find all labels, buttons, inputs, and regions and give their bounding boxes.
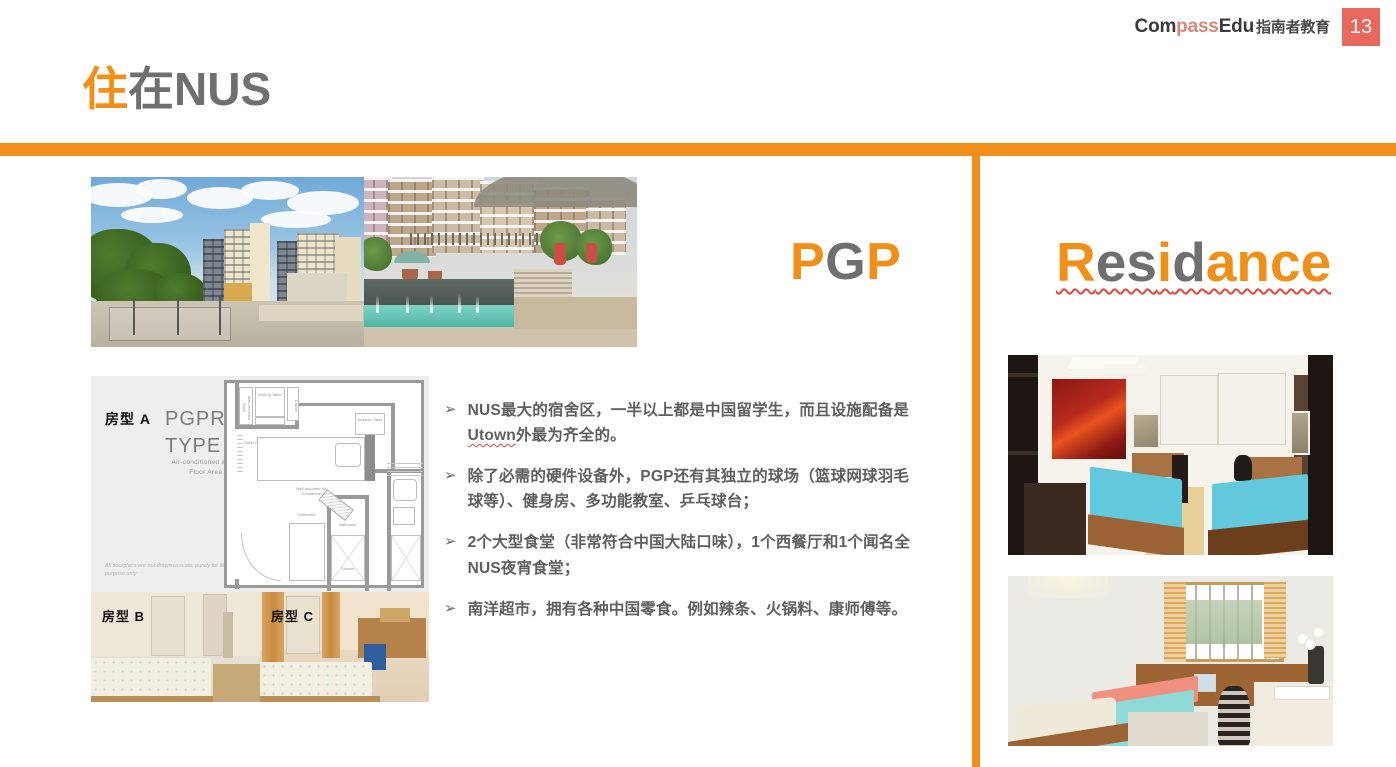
bullet-arrow-icon: ➢ — [444, 398, 457, 448]
window-blind — [1218, 373, 1286, 445]
residance-part-2: es — [1096, 231, 1157, 293]
building — [250, 223, 270, 311]
small-wall-art — [1290, 411, 1310, 455]
desk — [213, 664, 260, 702]
headboard — [365, 435, 375, 481]
residance-part-3: i — [1157, 231, 1172, 293]
pgp-banner-photo — [91, 177, 637, 347]
writing-table — [255, 387, 285, 417]
window-louver — [1164, 582, 1186, 662]
curtain — [262, 592, 284, 664]
paper-sheet — [1274, 686, 1330, 700]
residance-part-4: d — [1172, 231, 1206, 293]
room-type-b-label: 房型 B — [102, 606, 145, 625]
water-jet — [430, 295, 433, 313]
residance-part-5: ance — [1206, 231, 1331, 293]
wardrobe — [1308, 355, 1333, 555]
curtain — [322, 592, 340, 658]
pgp-heading: PGP — [790, 232, 901, 292]
list-item: ➢ 南洋超市，拥有各种中国零食。例如辣条、火锅料、康师傅等。 — [444, 597, 922, 622]
ceiling-light-glow — [1028, 576, 1108, 598]
room-type-c-photo: 房型 C — [260, 592, 429, 702]
door — [151, 596, 185, 656]
toilet — [393, 507, 415, 525]
pgp-letter-p2: P — [866, 233, 901, 291]
lantern — [554, 243, 566, 265]
deck — [514, 297, 637, 329]
writing-table-label: Writing Table — [256, 393, 284, 398]
chair — [1234, 455, 1252, 481]
light-pole — [133, 297, 135, 335]
flower — [1304, 638, 1316, 650]
water-jet — [476, 295, 479, 313]
room-type-a-label: 房型 A — [105, 409, 151, 429]
spellcheck-word: Utown — [468, 427, 516, 444]
pgp-fountain-plaza-photo — [364, 177, 637, 347]
logo-part-com: Com — [1135, 16, 1177, 37]
deck — [364, 327, 637, 347]
bullet-text: 2个大型食堂（非常符合中国大陆口味），1个西餐厅和1个闻名全NUS夜宵食堂； — [468, 530, 922, 580]
pgp-campus-aerial-photo — [91, 177, 364, 347]
brand-header: CompassEdu指南者教育 13 — [1135, 8, 1380, 46]
bullet-arrow-icon: ➢ — [444, 597, 457, 622]
lantern — [586, 243, 597, 263]
red-wall-art — [1050, 377, 1128, 461]
water-jet — [458, 293, 461, 313]
window-view — [1186, 600, 1262, 644]
shelf-board — [1008, 451, 1038, 455]
logo-chinese-name: 指南者教育 — [1256, 19, 1330, 36]
bullet-text-tail: 外最为齐全的。 — [516, 427, 626, 444]
wardrobe — [289, 523, 325, 581]
chair — [255, 417, 285, 425]
bullet-text: 除了必需的硬件设备外，PGP还有其独立的球场（篮球网球羽毛球等）、健身房、多功能… — [468, 464, 922, 514]
cloud — [135, 179, 187, 199]
twin-dorm-room-photo — [1008, 355, 1333, 555]
bedside-table-label: Bedside Table — [356, 418, 384, 423]
room-photos-row: 房型 B 房型 C — [91, 592, 429, 702]
list-item: ➢ 2个大型食堂（非常符合中国大陆口味），1个西餐厅和1个闻名全NUS夜宵食堂； — [444, 530, 922, 580]
small-wall-art — [1132, 413, 1160, 449]
shower-stall — [391, 535, 421, 581]
vertical-divider-bar — [972, 146, 980, 767]
header-divider-bar — [0, 143, 1396, 156]
bed-frame — [91, 696, 217, 702]
wall — [235, 425, 299, 429]
sink — [393, 479, 417, 501]
low-roof — [287, 273, 347, 301]
room-type-b-photo: 房型 B — [91, 592, 260, 702]
water-jet — [376, 295, 379, 313]
entrance-door-swing — [241, 533, 281, 581]
room-type-c-label: 房型 C — [271, 606, 314, 625]
window — [286, 596, 320, 654]
walkway — [259, 305, 363, 321]
vent — [387, 463, 423, 477]
sports-court — [109, 307, 231, 341]
water-jet — [406, 295, 409, 313]
building — [388, 179, 436, 257]
ceiling-light — [1104, 365, 1146, 373]
bullet-list: ➢ NUS最大的宿舍区，一半以上都是中国留学生，而且设施配备是Utown外最为齐… — [444, 398, 922, 638]
wardrobe-label: Wardrobe — [285, 513, 329, 518]
list-item: ➢ 除了必需的硬件设备外，PGP还有其独立的球场（篮球网球羽毛球等）、健身房、多… — [444, 464, 922, 514]
pergola — [410, 233, 540, 245]
window-blind — [1160, 375, 1218, 445]
floorplan-panel: 房型 A PGPR TYPE A Air-conditioned & attac… — [91, 376, 429, 592]
slide: CompassEdu指南者教育 13 住在NUS — [0, 0, 1396, 767]
aircon-label: Wall-mounted Air-Conditioner — [289, 487, 335, 497]
shower-label: Shower — [331, 567, 365, 572]
page-number-badge: 13 — [1342, 8, 1380, 46]
shelf — [380, 608, 410, 622]
bed-frame — [260, 696, 380, 702]
title-highlight: 住 — [82, 63, 128, 115]
roof-canopy — [474, 177, 637, 207]
logo-part-edu: Edu — [1219, 16, 1254, 37]
cloud — [261, 211, 331, 228]
wall — [365, 495, 369, 591]
bullet-arrow-icon: ➢ — [444, 464, 457, 514]
bedside-table — [355, 413, 385, 435]
pillow — [335, 443, 361, 467]
light-pole — [177, 295, 179, 335]
page-title: 住在NUS — [82, 66, 271, 112]
chair — [1218, 686, 1250, 746]
bullet-text: 南洋超市，拥有各种中国零食。例如辣条、火锅料、康师傅等。 — [468, 597, 908, 622]
floor — [1128, 712, 1208, 746]
floorplan-drawing: Wall-mounted Shelf Writing Table Drawer … — [224, 380, 424, 588]
bullet-text-main: NUS最大的宿舍区，一半以上都是中国留学生，而且设施配备是 — [468, 402, 910, 419]
compassedu-logo: CompassEdu指南者教育 — [1135, 16, 1330, 38]
balcony-grid — [388, 179, 436, 257]
bathroom-label: Bathroom — [331, 523, 365, 528]
bullet-text: NUS最大的宿舍区，一半以上都是中国留学生，而且设施配备是Utown外最为齐全的… — [468, 398, 922, 448]
shower-area — [331, 535, 365, 581]
bullet-arrow-icon: ➢ — [444, 530, 457, 580]
wall — [235, 579, 239, 589]
wall — [295, 403, 395, 406]
vase — [1308, 646, 1324, 684]
cloud — [121, 207, 183, 223]
list-item: ➢ NUS最大的宿舍区，一半以上都是中国留学生，而且设施配备是Utown外最为齐… — [444, 398, 922, 448]
shelf-board — [1008, 373, 1038, 377]
residance-heading: Residance — [1056, 230, 1331, 294]
drawer-label: Drawer — [290, 391, 298, 421]
pgp-letter-p1: P — [790, 233, 825, 291]
logo-part-pass: pass — [1176, 16, 1219, 37]
light-pole — [219, 297, 221, 335]
floorplan-title-line1: PGPR — [165, 408, 226, 430]
wall-shelf-label: Wall-mounted Shelf — [242, 391, 251, 425]
residance-part-1: R — [1056, 231, 1096, 293]
single-dorm-room-photo — [1008, 576, 1333, 746]
cabinet — [223, 612, 233, 658]
tree — [364, 237, 392, 271]
fountain-pool — [364, 305, 524, 329]
nightstand — [1024, 483, 1086, 555]
title-rest: 在NUS — [128, 63, 271, 115]
flower — [1312, 626, 1325, 639]
pgp-letter-g: G — [825, 233, 866, 291]
window-louver — [1264, 582, 1286, 658]
floorplan-block: 房型 A PGPR TYPE A Air-conditioned & attac… — [91, 376, 429, 702]
